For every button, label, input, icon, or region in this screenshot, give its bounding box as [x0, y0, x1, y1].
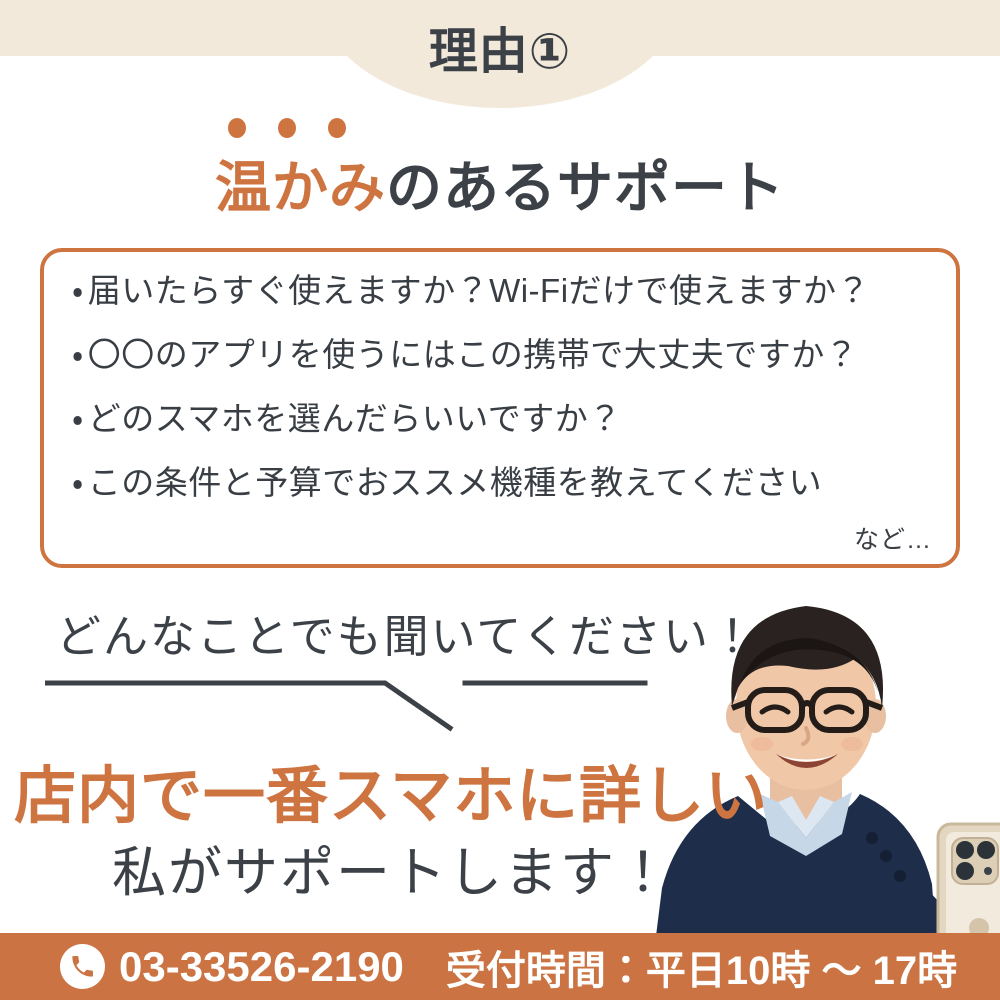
- contact-bar: 03-33526-2190 受付時間：平日10時 〜 17時: [0, 933, 1000, 1000]
- phone-handset-glyph: [69, 953, 96, 980]
- claim-headline: 店内で一番スマホに詳しい: [14, 745, 768, 835]
- subtitle-rest: のあるサポート: [386, 156, 785, 219]
- phone-icon[interactable]: [60, 944, 105, 989]
- question-box: ・届いたらすぐ使えますか？Wi-Fiだけで使えますか？ ・〇〇のアプリを使うには…: [40, 248, 960, 568]
- bullet-marker: ・: [72, 400, 84, 437]
- list-item: ・届いたらすぐ使えますか？Wi-Fiだけで使えますか？: [72, 274, 938, 307]
- ask-anything-text: どんなことでも聞いてください！: [56, 600, 757, 665]
- claim-subheadline: 私がサポートします！: [112, 828, 672, 907]
- emphasis-dots: [228, 118, 346, 138]
- pointer-divider-icon: [45, 665, 665, 735]
- page-title: 理由①: [0, 12, 1000, 83]
- business-hours: 受付時間：平日10時 〜 17時: [446, 938, 957, 996]
- subtitle-highlight: 温かみ: [215, 156, 386, 219]
- list-item: ・どのスマホを選んだらいいですか？: [72, 402, 938, 435]
- phone-number[interactable]: 03-33526-2190: [119, 943, 404, 991]
- question-list: ・届いたらすぐ使えますか？Wi-Fiだけで使えますか？ ・〇〇のアプリを使うには…: [72, 274, 938, 499]
- bullet-marker: ・: [72, 336, 84, 373]
- emphasis-dot: [328, 118, 346, 138]
- emphasis-dot: [228, 118, 246, 138]
- promo-poster: 理由① 温かみのあるサポート ・届いたらすぐ使えますか？Wi-Fiだけで使えます…: [0, 0, 1000, 1000]
- list-item-text: どのスマホを選んだらいいですか？: [88, 400, 622, 437]
- list-item-text: 届いたらすぐ使えますか？Wi-Fiだけで使えますか？: [88, 272, 870, 309]
- list-item-text: 〇〇のアプリを使うにはこの携帯で大丈夫ですか？: [88, 336, 859, 373]
- emphasis-dot: [278, 118, 296, 138]
- list-item-text: この条件と予算でおススメ機種を教えてください: [88, 464, 822, 501]
- list-item: ・この条件と予算でおススメ機種を教えてください: [72, 466, 938, 499]
- etc-note: など…: [854, 520, 932, 556]
- bullet-marker: ・: [72, 464, 84, 501]
- section-subtitle: 温かみのあるサポート: [0, 143, 1000, 224]
- bullet-marker: ・: [72, 272, 84, 309]
- list-item: ・〇〇のアプリを使うにはこの携帯で大丈夫ですか？: [72, 338, 938, 371]
